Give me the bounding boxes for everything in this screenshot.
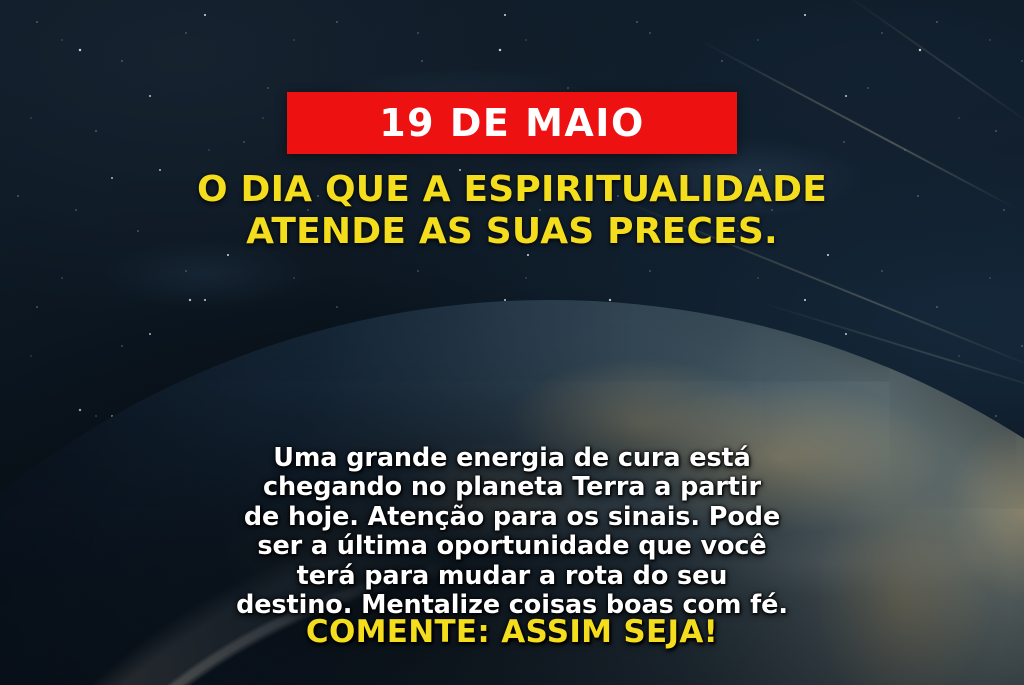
poster-image: 19 DE MAIO O DIA QUE A ESPIRITUALIDADE A… [0, 0, 1024, 685]
body-copy-line: Uma grande energia de cura está [52, 444, 972, 473]
body-copy-line: terá para mudar a rota do seu [52, 562, 972, 591]
headline: O DIA QUE A ESPIRITUALIDADE ATENDE AS SU… [72, 169, 952, 253]
date-banner-label: 19 DE MAIO [379, 104, 645, 142]
body-copy-line: chegando no planeta Terra a partir [52, 473, 972, 502]
body-copy-line: de hoje. Atenção para os sinais. Pode [52, 503, 972, 532]
headline-line-2: ATENDE AS SUAS PRECES. [72, 211, 952, 253]
call-to-action-label: COMENTE: ASSIM SEJA! [306, 614, 718, 650]
headline-line-1: O DIA QUE A ESPIRITUALIDADE [197, 169, 827, 210]
call-to-action: COMENTE: ASSIM SEJA! [0, 614, 1024, 650]
body-copy: Uma grande energia de cura está chegando… [0, 444, 1024, 621]
body-copy-line: ser a última oportunidade que você [52, 532, 972, 561]
date-banner: 19 DE MAIO [287, 92, 737, 154]
poster-content: 19 DE MAIO O DIA QUE A ESPIRITUALIDADE A… [0, 0, 1024, 685]
